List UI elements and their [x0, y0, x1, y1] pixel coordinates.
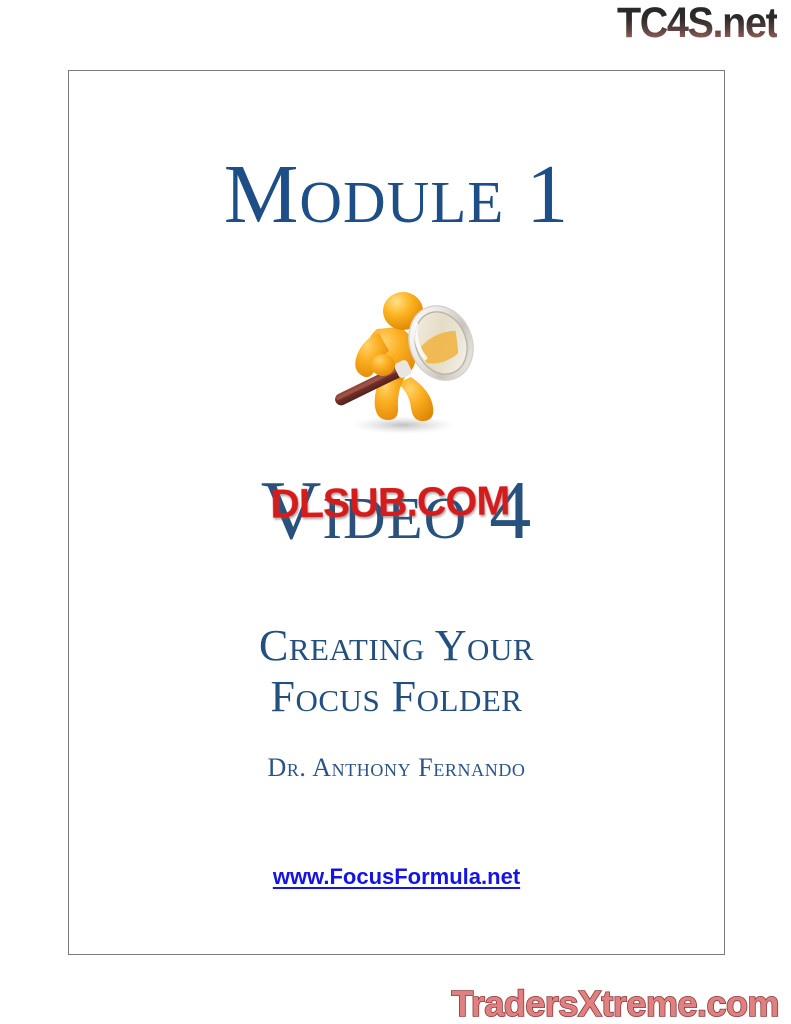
page-subtitle: Creating Your Focus Folder — [69, 620, 724, 722]
website-url-row: www.FocusFormula.net — [69, 864, 724, 890]
bottom-site-brand: TradersXtreme.com — [451, 986, 779, 1022]
document-page: Module 1 — [68, 70, 725, 955]
page-title: Module 1 — [69, 153, 724, 237]
author-name: Dr. Anthony Fernando — [69, 755, 724, 781]
top-site-brand: TC4S.net — [617, 2, 777, 45]
website-link[interactable]: www.FocusFormula.net — [273, 864, 520, 889]
subtitle-line-1: Creating Your — [69, 620, 724, 671]
subtitle-line-2: Focus Folder — [69, 671, 724, 722]
dlsub-watermark: DLSUB.COM — [269, 480, 509, 524]
video-title-row: Video 4 DLSUB.COM — [69, 469, 724, 579]
magnifying-glass-person-icon — [299, 281, 499, 441]
